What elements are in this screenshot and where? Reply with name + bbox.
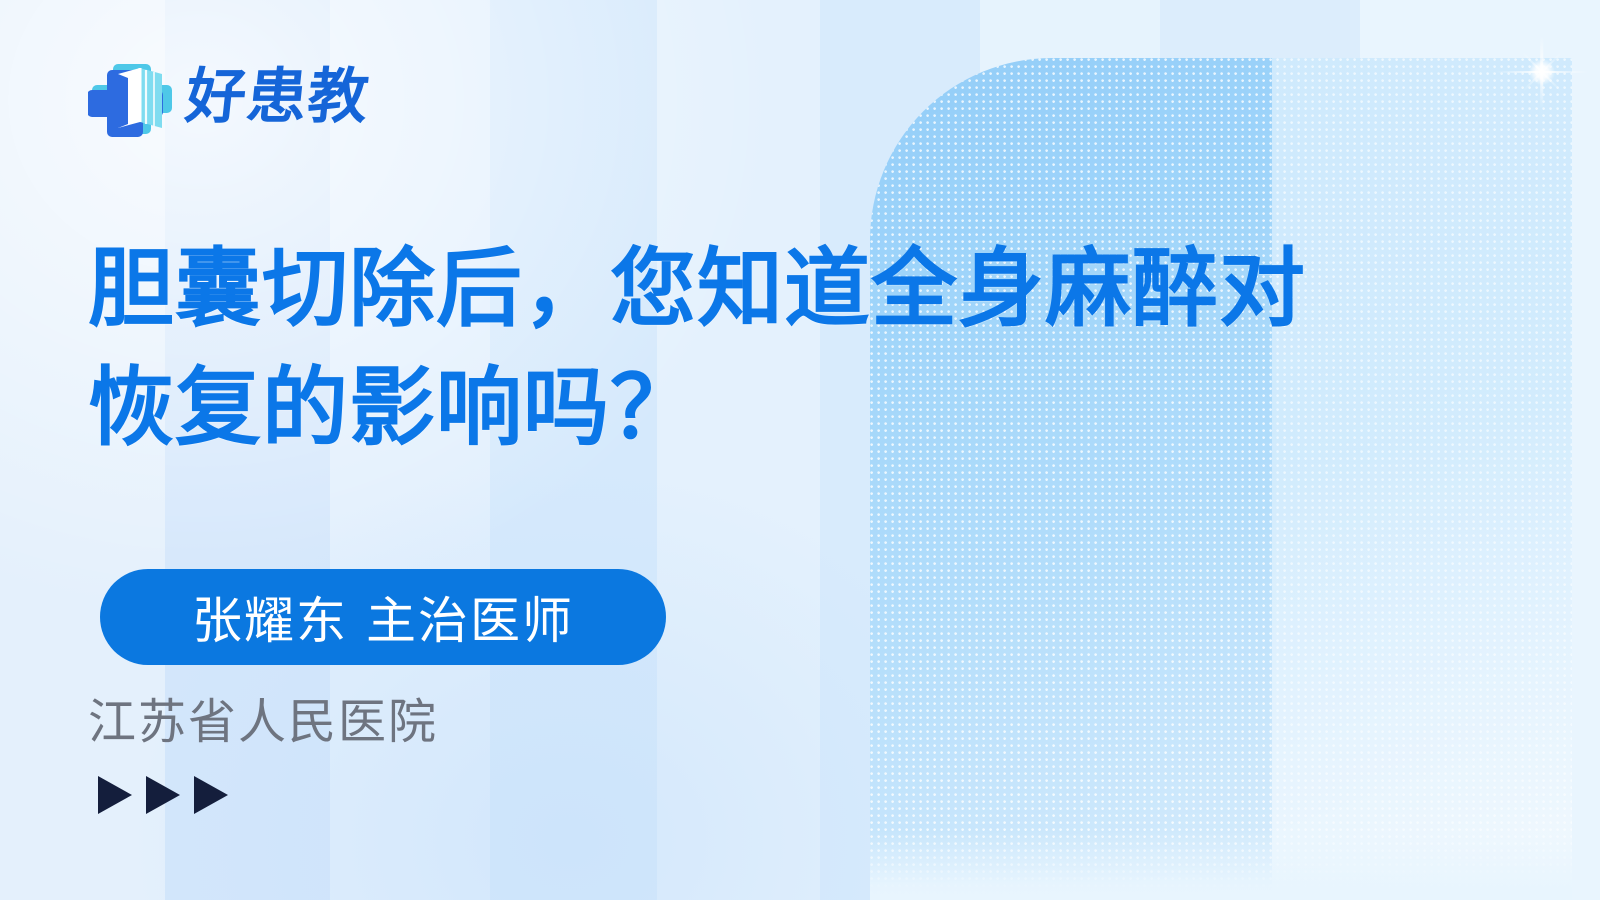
hospital-name: 江苏省人民医院 bbox=[88, 682, 438, 752]
panel-light-overlay bbox=[1272, 58, 1572, 900]
headline-line-2: 恢复的影响吗？ bbox=[88, 349, 1488, 468]
play-triangle-3-icon bbox=[194, 776, 228, 814]
play-triangle-2-icon bbox=[146, 776, 180, 814]
banner-canvas: 好患教 胆囊切除后，您知道全身麻醉对 恢复的影响吗？ 张耀东 主治医师 江苏省人… bbox=[0, 0, 1600, 900]
play-arrows bbox=[98, 776, 228, 814]
panel-bottom-fade bbox=[870, 830, 1572, 900]
headline-line-1: 胆囊切除后，您知道全身麻醉对 bbox=[88, 230, 1488, 349]
brand-name: 好患教 bbox=[183, 67, 372, 127]
page-title: 胆囊切除后，您知道全身麻醉对 恢复的影响吗？ bbox=[88, 230, 1488, 467]
doctor-badge: 张耀东 主治医师 bbox=[100, 569, 666, 665]
brand-logo: 好患教 bbox=[88, 54, 369, 140]
decorative-rounded-panel bbox=[870, 58, 1572, 900]
medical-cross-book-icon bbox=[88, 54, 172, 140]
play-triangle-1-icon bbox=[98, 776, 132, 814]
